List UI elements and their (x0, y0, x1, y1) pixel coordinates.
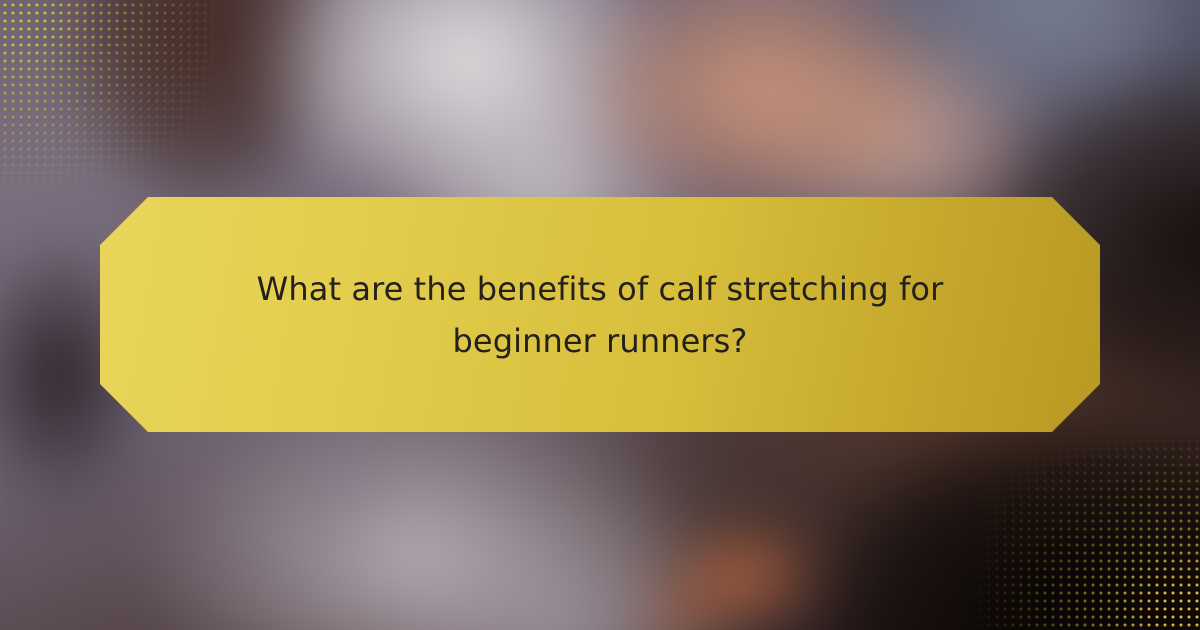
social-card-canvas: What are the benefits of calf stretching… (0, 0, 1200, 630)
page-title: What are the benefits of calf stretching… (220, 263, 980, 367)
headline-banner: What are the benefits of calf stretching… (100, 197, 1100, 432)
